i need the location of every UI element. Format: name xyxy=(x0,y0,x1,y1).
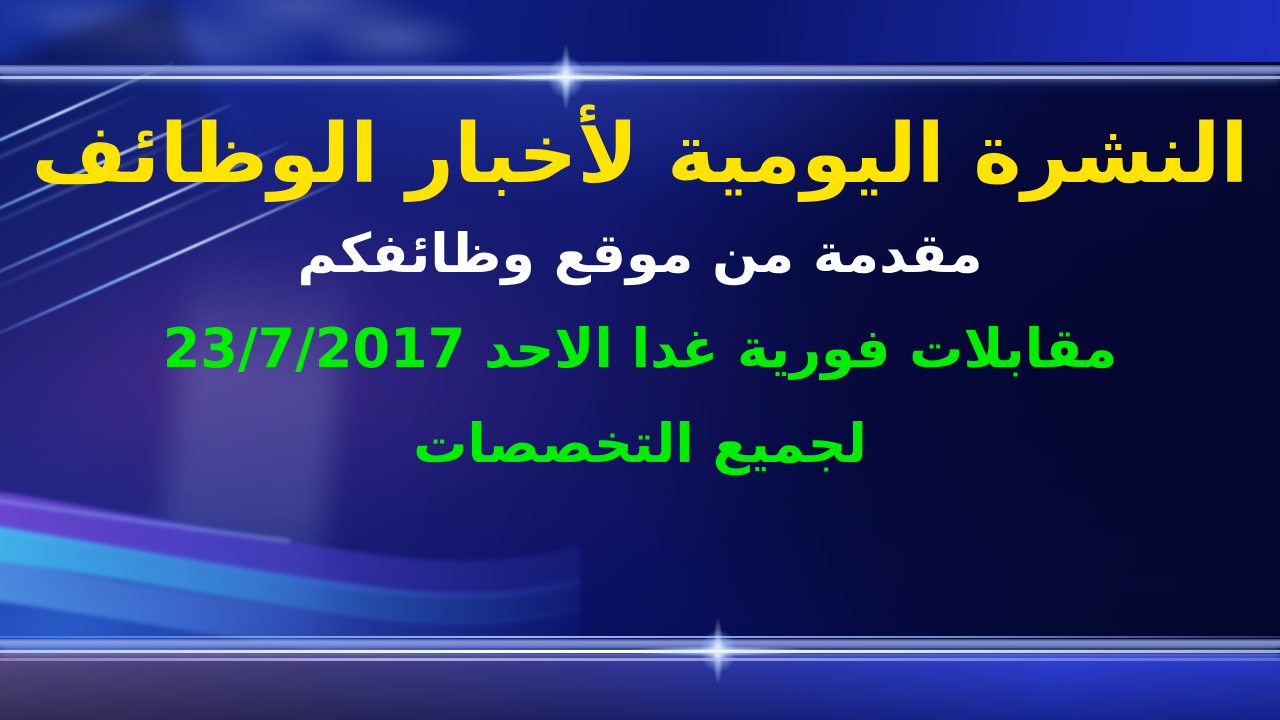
subheadline-source: مقدمة من موقع وظائفكم xyxy=(0,225,1280,282)
slide-text-block: النشرة اليومية لأخبار الوظائف مقدمة من م… xyxy=(0,84,1280,636)
headline-title: النشرة اليومية لأخبار الوظائف xyxy=(0,112,1280,199)
dateline-interviews: مقابلات فورية غدا الاحد 23/7/2017 xyxy=(0,320,1280,377)
tagline-specializations: لجميع التخصصات xyxy=(0,415,1280,472)
slide-canvas: النشرة اليومية لأخبار الوظائف مقدمة من م… xyxy=(0,0,1280,720)
